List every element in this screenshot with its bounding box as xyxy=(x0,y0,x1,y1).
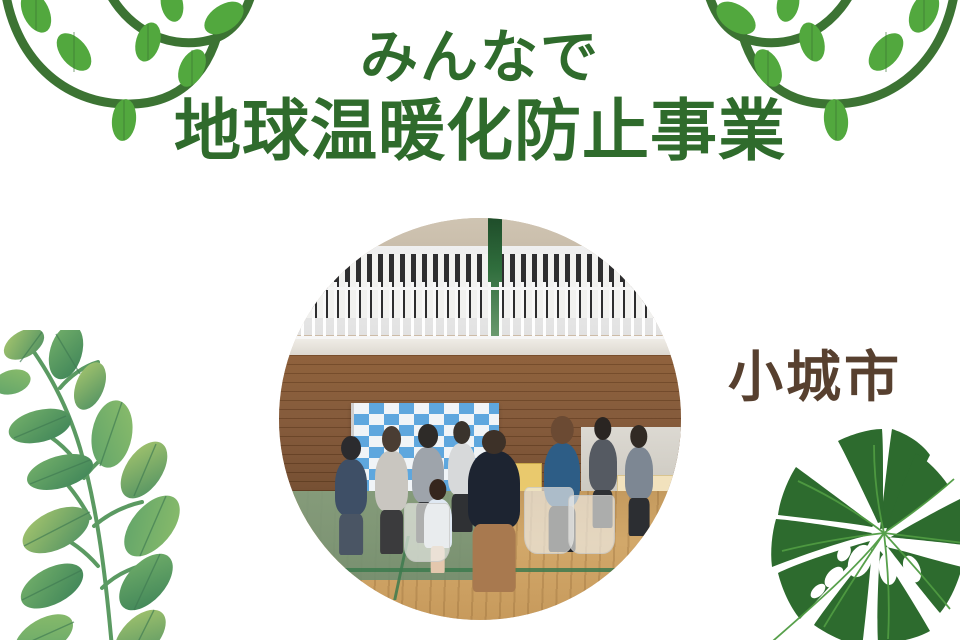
person-figure xyxy=(375,451,407,511)
gym-balcony-railing xyxy=(279,282,681,342)
person-figure xyxy=(335,459,367,515)
monstera-leaf xyxy=(692,411,960,640)
person-figure xyxy=(589,439,617,491)
shopping-bag xyxy=(568,495,614,553)
person-figure xyxy=(625,447,653,499)
event-photo-scene xyxy=(279,218,681,620)
poster-canvas: みんなで 地球温暖化防止事業 小城市 xyxy=(0,0,960,640)
city-name-label: 小城市 xyxy=(728,332,902,412)
poster-title: みんなで 地球温暖化防止事業 xyxy=(0,26,960,168)
title-line-2: 地球温暖化防止事業 xyxy=(0,95,960,169)
person-figure-center xyxy=(468,451,520,527)
title-line-1: みんなで xyxy=(0,26,960,89)
event-photo xyxy=(279,218,681,620)
shopping-bag xyxy=(404,503,450,561)
watercolor-eucalyptus-branch xyxy=(0,330,224,640)
shopping-bag xyxy=(524,487,574,553)
